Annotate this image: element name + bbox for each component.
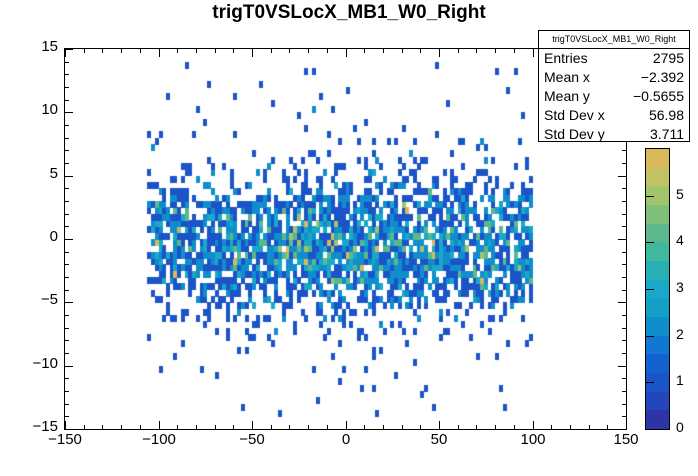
x-axis-minor-tick xyxy=(402,425,403,429)
x-axis-minor-tick xyxy=(402,49,403,53)
stats-row-key: Entries xyxy=(544,49,588,68)
y-axis-major-tick xyxy=(65,176,73,177)
x-axis-minor-tick xyxy=(495,49,496,53)
y-axis-minor-tick xyxy=(65,290,69,291)
y-axis-minor-tick xyxy=(65,62,69,63)
palette-label: 5 xyxy=(676,189,684,199)
x-axis-minor-tick xyxy=(102,49,103,53)
y-axis-minor-tick xyxy=(65,100,69,101)
x-axis-minor-tick xyxy=(364,425,365,429)
y-axis-minor-tick xyxy=(622,226,626,227)
x-axis-major-tick xyxy=(65,49,66,57)
y-axis-major-tick xyxy=(65,239,73,240)
y-axis-major-tick xyxy=(65,429,73,430)
x-axis-minor-tick xyxy=(570,425,571,429)
x-axis-minor-tick xyxy=(458,425,459,429)
palette-band xyxy=(646,336,669,355)
y-axis-minor-tick xyxy=(65,252,69,253)
x-axis-minor-tick xyxy=(215,49,216,53)
x-axis-minor-tick xyxy=(233,49,234,53)
root-container: trigT0VSLocX_MB1_W0_Right −15−10−5051015… xyxy=(0,0,698,476)
y-axis-label: 0 xyxy=(12,232,58,242)
y-axis-minor-tick xyxy=(622,163,626,164)
y-axis-minor-tick xyxy=(622,353,626,354)
x-axis-minor-tick xyxy=(121,425,122,429)
palette-label: 2 xyxy=(676,329,684,339)
x-axis-minor-tick xyxy=(308,425,309,429)
y-axis-minor-tick xyxy=(622,150,626,151)
x-axis-minor-tick xyxy=(177,49,178,53)
x-axis-label: 50 xyxy=(409,434,469,446)
x-axis-major-tick xyxy=(439,421,440,429)
y-axis-minor-tick xyxy=(65,163,69,164)
palette-label: 4 xyxy=(676,235,684,245)
palette-tick xyxy=(645,196,654,197)
stats-box-title: trigT0VSLocX_MB1_W0_Right xyxy=(539,31,689,49)
y-axis-minor-tick xyxy=(65,74,69,75)
x-axis-minor-tick xyxy=(84,49,85,53)
x-axis-major-tick xyxy=(533,49,534,57)
x-axis-major-tick xyxy=(159,421,160,429)
palette-tick xyxy=(645,289,654,290)
y-axis-minor-tick xyxy=(622,252,626,253)
x-axis-minor-tick xyxy=(327,49,328,53)
x-axis-minor-tick xyxy=(177,425,178,429)
y-axis-minor-tick xyxy=(622,391,626,392)
stats-box: trigT0VSLocX_MB1_W0_Right Entries2795Mea… xyxy=(538,30,690,142)
x-axis-label: 100 xyxy=(503,434,563,446)
y-axis-minor-tick xyxy=(622,188,626,189)
y-axis-minor-tick xyxy=(622,340,626,341)
palette-band xyxy=(646,354,669,373)
palette-tick xyxy=(645,382,654,383)
y-axis-minor-tick xyxy=(622,328,626,329)
x-axis-minor-tick xyxy=(271,49,272,53)
x-axis-minor-tick xyxy=(551,425,552,429)
x-axis-minor-tick xyxy=(476,49,477,53)
y-axis-minor-tick xyxy=(65,125,69,126)
palette-band xyxy=(646,410,669,429)
y-axis-minor-tick xyxy=(65,188,69,189)
stats-row-key: Mean x xyxy=(544,68,590,87)
palette-band xyxy=(646,317,669,336)
y-axis-minor-tick xyxy=(65,87,69,88)
palette-band xyxy=(646,168,669,187)
y-axis-label: 5 xyxy=(12,169,58,179)
y-axis-minor-tick xyxy=(65,138,69,139)
x-axis-minor-tick xyxy=(196,49,197,53)
x-axis-major-tick xyxy=(626,421,627,429)
x-axis-minor-tick xyxy=(289,49,290,53)
x-axis-minor-tick xyxy=(308,49,309,53)
y-axis-minor-tick xyxy=(622,315,626,316)
y-axis-label: 15 xyxy=(12,42,58,52)
x-axis-label: −50 xyxy=(222,434,282,446)
y-axis-minor-tick xyxy=(65,404,69,405)
y-axis-minor-tick xyxy=(622,264,626,265)
y-axis-major-tick xyxy=(65,112,73,113)
x-axis-minor-tick xyxy=(196,425,197,429)
y-axis-major-tick xyxy=(618,429,626,430)
x-axis-label: 0 xyxy=(316,434,376,446)
x-axis-minor-tick xyxy=(514,49,515,53)
x-axis-minor-tick xyxy=(495,425,496,429)
stats-row-value: 56.98 xyxy=(649,106,684,125)
x-axis-label: −150 xyxy=(35,434,95,446)
x-axis-label: 150 xyxy=(596,434,656,446)
y-axis-minor-tick xyxy=(622,404,626,405)
x-axis-minor-tick xyxy=(589,425,590,429)
y-axis-minor-tick xyxy=(65,340,69,341)
stats-row: Entries2795 xyxy=(539,49,689,68)
stats-row-value: −2.392 xyxy=(641,68,684,87)
stats-row: Mean y−0.5655 xyxy=(539,87,689,106)
palette-tick xyxy=(645,242,654,243)
x-axis-major-tick xyxy=(439,49,440,57)
y-axis-minor-tick xyxy=(622,378,626,379)
palette-tick xyxy=(645,336,654,337)
y-axis-label: −5 xyxy=(12,295,58,305)
palette-tick xyxy=(645,429,654,430)
y-axis-minor-tick xyxy=(65,378,69,379)
palette-label: 0 xyxy=(676,422,684,432)
y-axis-major-tick xyxy=(618,176,626,177)
x-axis-minor-tick xyxy=(215,425,216,429)
y-axis-label: −10 xyxy=(12,359,58,369)
y-axis-major-tick xyxy=(65,302,73,303)
stats-row-key: Std Dev y xyxy=(544,125,605,144)
palette-band xyxy=(646,242,669,261)
stats-row-value: 3.711 xyxy=(650,125,684,144)
x-axis-minor-tick xyxy=(420,425,421,429)
x-axis-minor-tick xyxy=(233,425,234,429)
y-axis-minor-tick xyxy=(622,416,626,417)
y-axis-minor-tick xyxy=(65,391,69,392)
stats-row: Std Dev x56.98 xyxy=(539,106,689,125)
y-axis-major-tick xyxy=(618,366,626,367)
x-axis-minor-tick xyxy=(383,425,384,429)
y-axis-minor-tick xyxy=(622,214,626,215)
x-axis-minor-tick xyxy=(364,49,365,53)
y-axis-minor-tick xyxy=(65,416,69,417)
x-axis-major-tick xyxy=(533,421,534,429)
y-axis-minor-tick xyxy=(65,226,69,227)
x-axis-minor-tick xyxy=(383,49,384,53)
palette-label: 1 xyxy=(676,375,684,385)
x-axis-minor-tick xyxy=(140,425,141,429)
stats-row-key: Std Dev x xyxy=(544,106,605,125)
y-axis-minor-tick xyxy=(622,201,626,202)
y-axis-minor-tick xyxy=(65,201,69,202)
stats-rows: Entries2795Mean x−2.392Mean y−0.5655Std … xyxy=(539,49,689,144)
y-axis-minor-tick xyxy=(622,277,626,278)
palette-label: 3 xyxy=(676,282,684,292)
x-axis-minor-tick xyxy=(514,425,515,429)
palette-band xyxy=(646,298,669,317)
x-axis-minor-tick xyxy=(327,425,328,429)
y-axis-minor-tick xyxy=(65,315,69,316)
palette-band xyxy=(646,261,669,280)
palette-band xyxy=(646,205,669,224)
y-axis-minor-tick xyxy=(65,150,69,151)
x-axis-major-tick xyxy=(252,421,253,429)
palette-band xyxy=(646,224,669,243)
y-axis-major-tick xyxy=(65,366,73,367)
y-axis-label: 10 xyxy=(12,105,58,115)
palette-band xyxy=(646,392,669,411)
y-axis-major-tick xyxy=(618,239,626,240)
x-axis-minor-tick xyxy=(84,425,85,429)
x-axis-major-tick xyxy=(346,421,347,429)
stats-row: Std Dev y3.711 xyxy=(539,125,689,144)
x-axis-minor-tick xyxy=(271,425,272,429)
x-axis-minor-tick xyxy=(476,425,477,429)
stats-row-value: −0.5655 xyxy=(633,87,684,106)
x-axis-major-tick xyxy=(252,49,253,57)
x-axis-major-tick xyxy=(346,49,347,57)
palette-band xyxy=(646,149,669,168)
y-axis-minor-tick xyxy=(65,264,69,265)
x-axis-minor-tick xyxy=(289,425,290,429)
y-axis-minor-tick xyxy=(65,277,69,278)
page-title: trigT0VSLocX_MB1_W0_Right xyxy=(0,2,698,24)
y-axis-minor-tick xyxy=(65,328,69,329)
stats-row-value: 2795 xyxy=(653,49,684,68)
x-axis-minor-tick xyxy=(121,49,122,53)
x-axis-minor-tick xyxy=(140,49,141,53)
y-axis-major-tick xyxy=(618,302,626,303)
stats-row-key: Mean y xyxy=(544,87,590,106)
x-axis-minor-tick xyxy=(102,425,103,429)
x-axis-minor-tick xyxy=(458,49,459,53)
x-axis-major-tick xyxy=(65,421,66,429)
x-axis-label: −100 xyxy=(129,434,189,446)
y-axis-major-tick xyxy=(65,49,73,50)
y-axis-minor-tick xyxy=(622,290,626,291)
x-axis-minor-tick xyxy=(607,425,608,429)
stats-row: Mean x−2.392 xyxy=(539,68,689,87)
x-axis-major-tick xyxy=(159,49,160,57)
y-axis-minor-tick xyxy=(65,214,69,215)
y-axis-minor-tick xyxy=(65,353,69,354)
x-axis-minor-tick xyxy=(420,49,421,53)
